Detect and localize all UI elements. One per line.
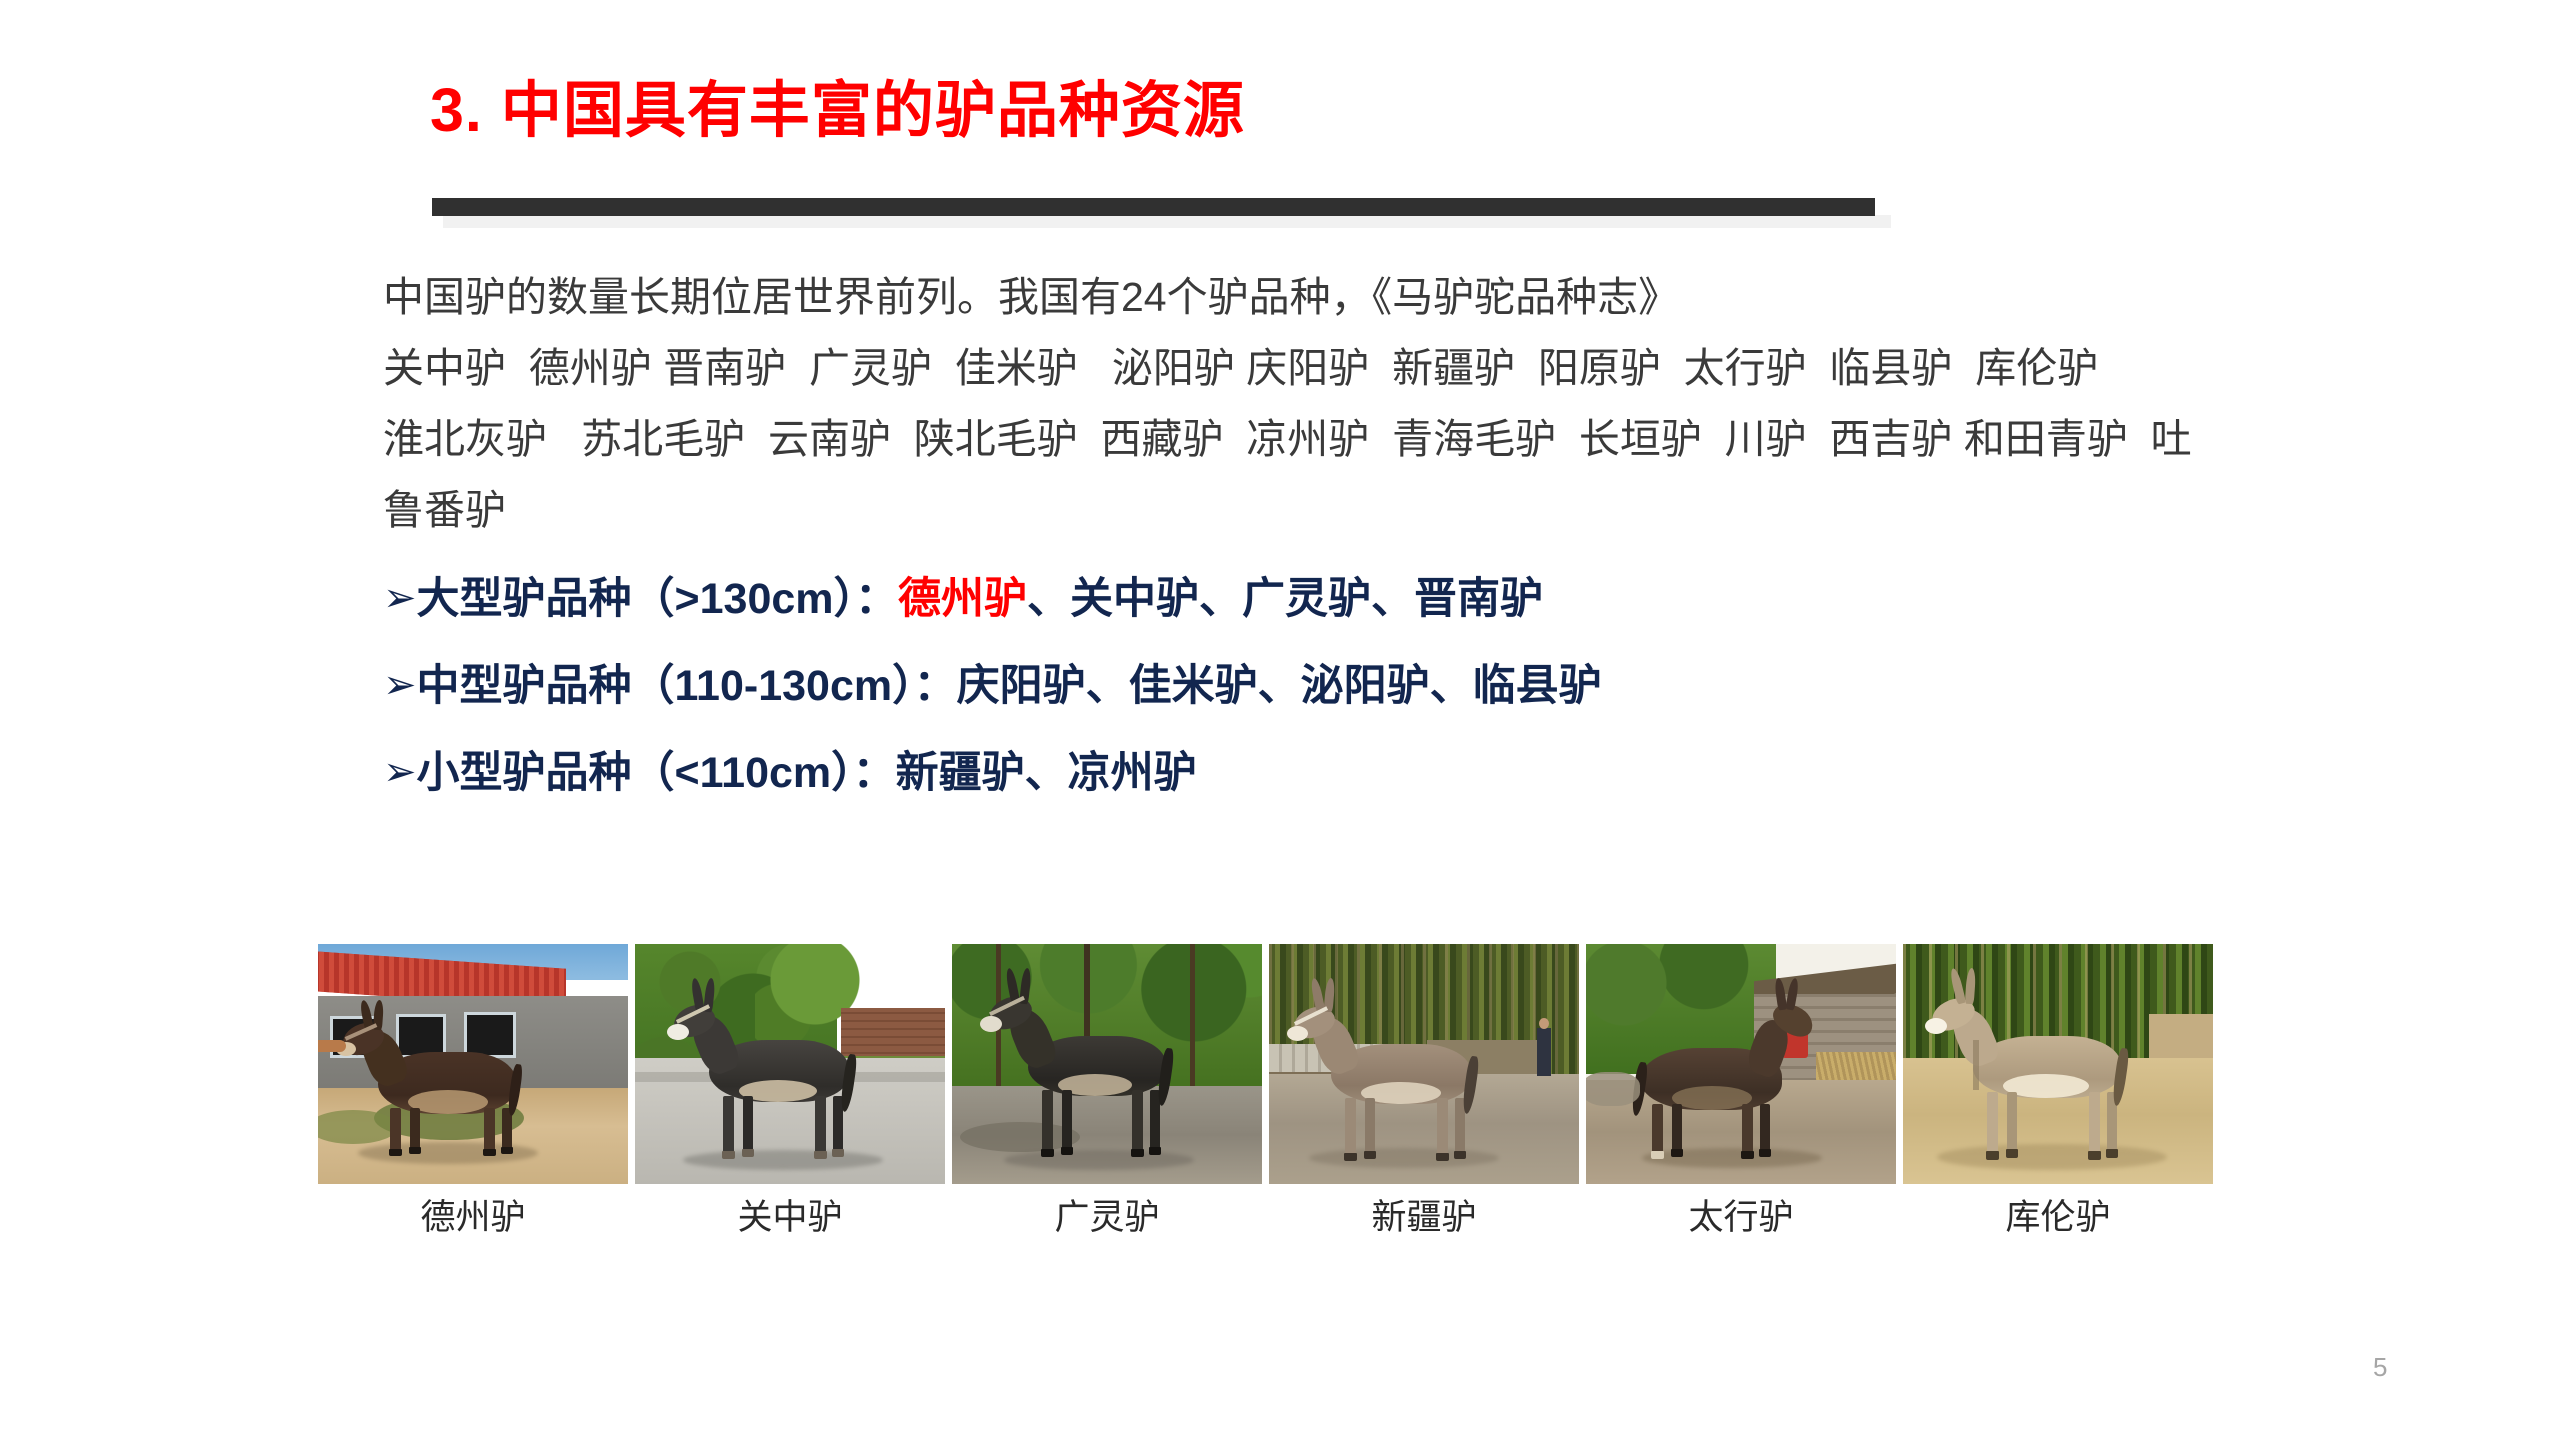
page-title: 3. 中国具有丰富的驴品种资源 [430,78,1245,144]
bullet-1-rest: 、关中驴、广灵驴、晋南驴 [1027,575,1543,623]
bullet-2-rest: 庆阳驴、佳米驴、泌阳驴、临县驴 [957,662,1602,710]
bullet-1-highlight-breed: 德州驴 [898,575,1027,623]
title-divider-bar [432,198,1875,216]
title-divider-shadow [443,215,1891,228]
page-number: 5 [2373,1352,2387,1383]
bullet-3-rest: 新疆驴、凉州驴 [896,749,1197,797]
donkey-photo-strip [318,944,2238,1184]
bullet-large-breeds: ➢大型驴品种（>130cm）：德州驴、关中驴、广灵驴、晋南驴 [383,578,1543,621]
body-line-2: 关中驴 德州驴 晋南驴 广灵驴 佳米驴 泌阳驴 庆阳驴 新疆驴 阳原驴 太行驴 … [383,333,2463,404]
photo-xinjiang-donkey [1269,944,1579,1184]
photo-kulun-donkey [1903,944,2213,1184]
body-line-4: 鲁番驴 [383,475,2463,546]
photo-guanzhong-donkey [635,944,945,1184]
bullet-3-range: （<110cm）： [632,749,896,797]
bullet-1-range: （>130cm）： [632,575,899,623]
bullet-2-label: 中型驴品种 [417,662,632,710]
photo-guangling-donkey [952,944,1262,1184]
bullet-2-range: （110-130cm）： [632,662,957,710]
caption-photo-6: 库伦驴 [1903,1200,2213,1256]
photo-taihang-donkey [1586,944,1896,1184]
bullet-1-label: 大型驴品种 [417,575,632,623]
body-line-1: 中国驴的数量长期位居世界前列。我国有24个驴品种，《马驴驼品种志》 [383,262,2463,333]
caption-photo-4: 新疆驴 [1269,1200,1579,1256]
photo-dezhou-donkey [318,944,628,1184]
bullet-medium-breeds: ➢中型驴品种（110-130cm）：庆阳驴、佳米驴、泌阳驴、临县驴 [383,665,1602,708]
arrow-bullet-icon: ➢ [383,665,417,705]
caption-photo-1: 德州驴 [318,1200,628,1256]
caption-photo-3: 广灵驴 [952,1200,1262,1256]
bullet-3-label: 小型驴品种 [417,749,632,797]
slide-canvas: 3. 中国具有丰富的驴品种资源 中国驴的数量长期位居世界前列。我国有24个驴品种… [0,0,2560,1440]
body-line-3: 淮北灰驴 苏北毛驴 云南驴 陕北毛驴 西藏驴 凉州驴 青海毛驴 长垣驴 川驴 西… [383,404,2463,475]
arrow-bullet-icon: ➢ [383,578,417,618]
bullet-small-breeds: ➢小型驴品种（<110cm）：新疆驴、凉州驴 [383,752,1197,795]
arrow-bullet-icon: ➢ [383,752,417,792]
caption-photo-5: 太行驴 [1586,1200,1896,1256]
body-paragraph: 中国驴的数量长期位居世界前列。我国有24个驴品种，《马驴驼品种志》 关中驴 德州… [383,262,2463,546]
caption-photo-2: 关中驴 [635,1200,945,1256]
photo-captions-row: 德州驴 关中驴 广灵驴 新疆驴 太行驴 库伦驴 [318,1200,2238,1256]
